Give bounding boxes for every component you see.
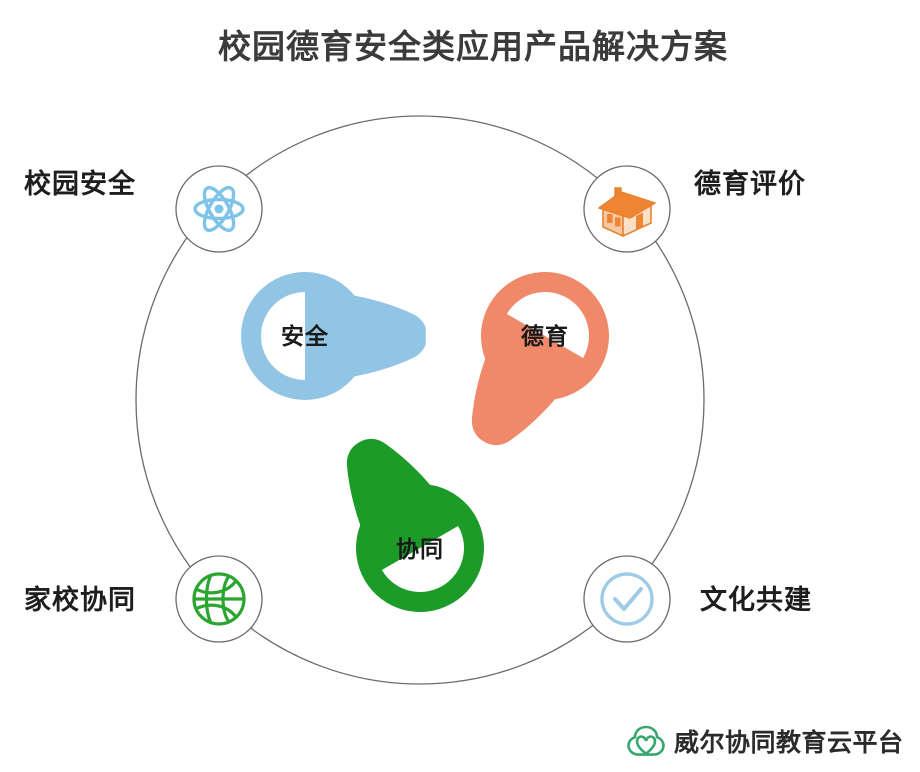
- label-moral-evaluation: 德育评价: [694, 162, 806, 201]
- core-lobe-collaborate[interactable]: [304, 410, 508, 635]
- core-lobe-moral[interactable]: [429, 249, 633, 474]
- node-circle: [584, 556, 670, 642]
- core-lobe-safety[interactable]: [241, 272, 427, 400]
- cloud-leaf-logo: [626, 722, 666, 760]
- core-label-moral: 德育: [521, 323, 569, 349]
- brand-footer: 威尔协同教育云平台: [626, 722, 904, 760]
- brand-name: 威尔协同教育云平台: [674, 723, 904, 759]
- node-home-school-collaboration[interactable]: [176, 556, 262, 642]
- core-label-safety: 安全: [281, 323, 329, 349]
- core-label-collaborate: 协同: [396, 536, 444, 562]
- node-culture-construction[interactable]: [584, 556, 670, 642]
- label-home-school-collaboration: 家校协同: [24, 578, 136, 617]
- label-culture-construction: 文化共建: [700, 578, 812, 617]
- core-triskelion: 安全 德育 协同: [241, 249, 632, 636]
- node-moral-evaluation[interactable]: [584, 166, 670, 252]
- node-campus-safety[interactable]: [176, 166, 262, 252]
- label-campus-safety: 校园安全: [24, 162, 136, 201]
- solution-diagram: 安全 德育 协同: [0, 0, 920, 772]
